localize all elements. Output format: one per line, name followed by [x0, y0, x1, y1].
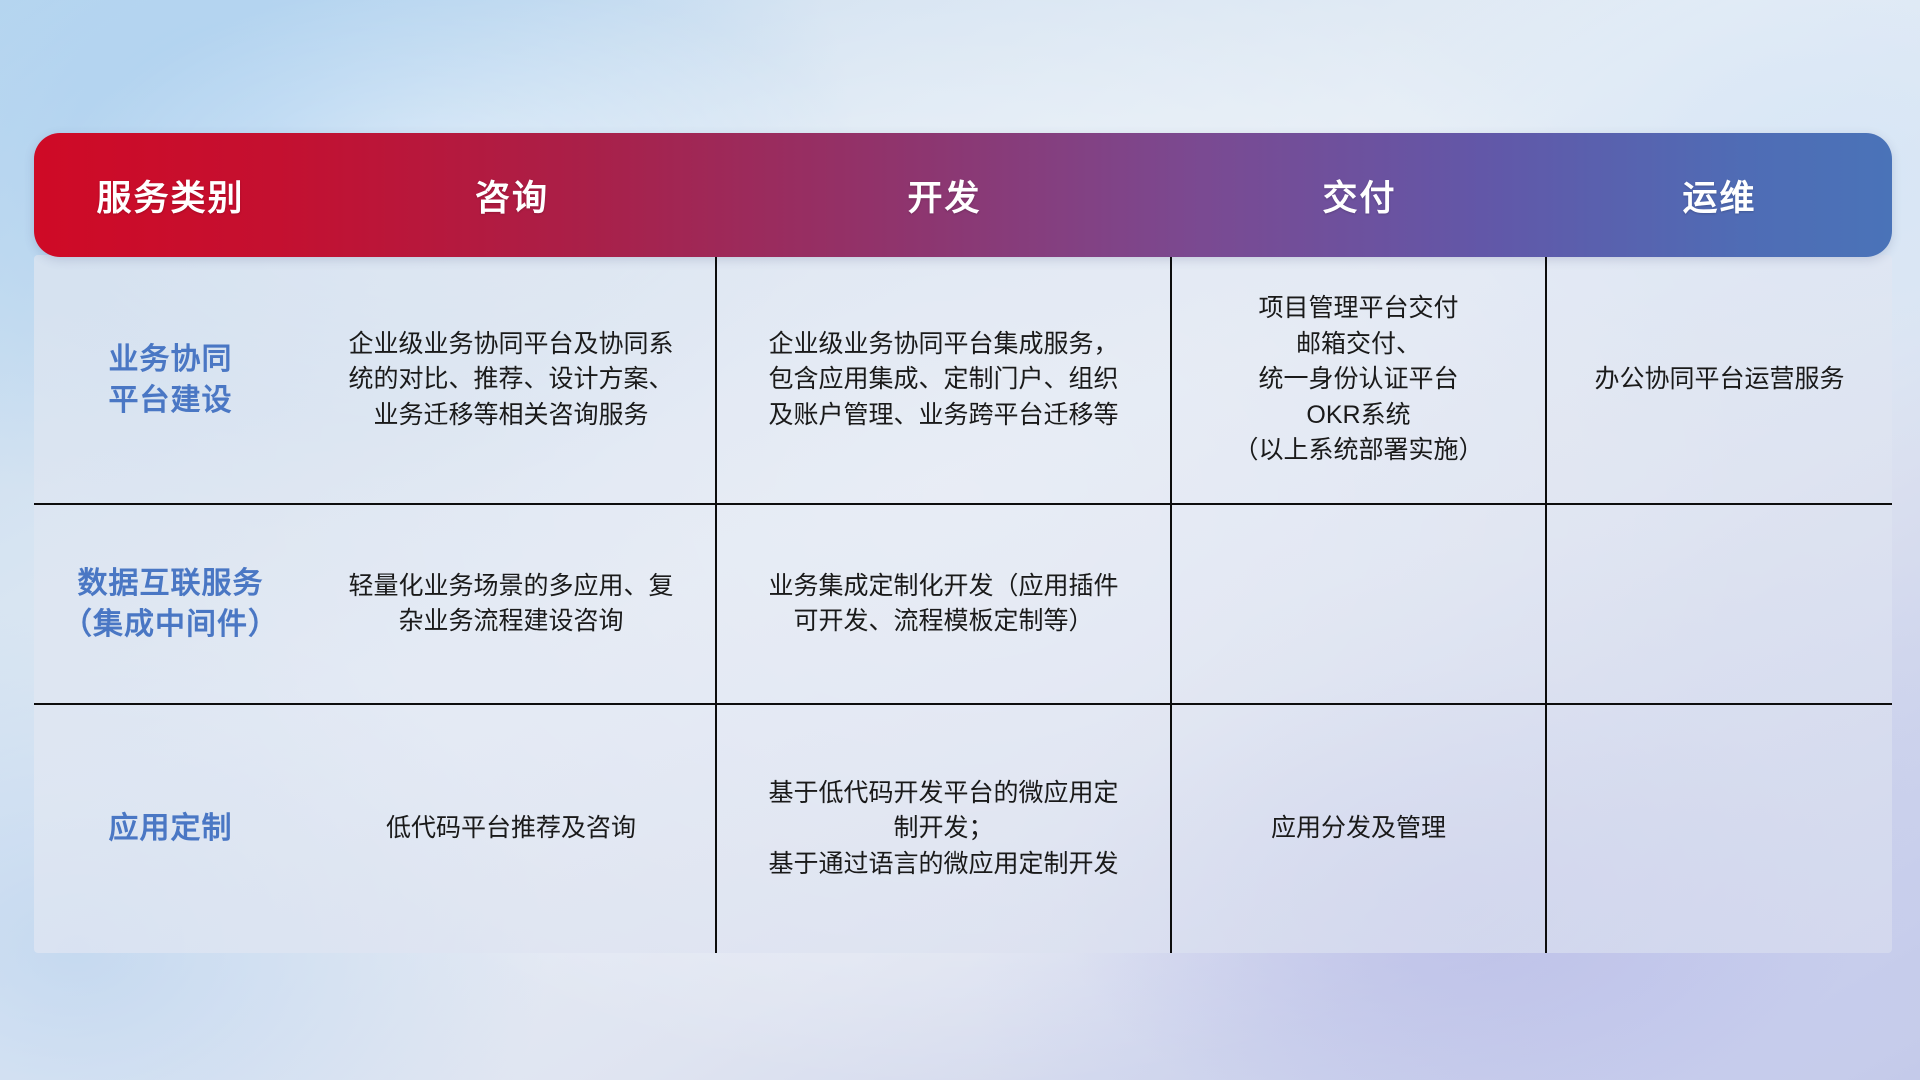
row-category-label: 应用定制	[34, 705, 307, 953]
cell-consulting: 低代码平台推荐及咨询	[307, 705, 717, 953]
table-header-consulting: 咨询	[307, 133, 717, 257]
cell-delivery	[1172, 505, 1547, 703]
cell-delivery: 项目管理平台交付 邮箱交付、 统一身份认证平台 OKR系统 （以上系统部署实施）	[1172, 257, 1547, 503]
table-header-row: 服务类别 咨询 开发 交付 运维	[34, 133, 1892, 257]
cell-development: 业务集成定制化开发（应用插件 可开发、流程模板定制等）	[717, 505, 1172, 703]
row-category-label: 数据互联服务 （集成中间件）	[34, 505, 307, 703]
table-header-development: 开发	[717, 133, 1172, 257]
cell-development: 基于低代码开发平台的微应用定 制开发； 基于通过语言的微应用定制开发	[717, 705, 1172, 953]
table-header-service-category: 服务类别	[34, 133, 307, 257]
service-matrix-table: 服务类别 咨询 开发 交付 运维 业务协同 平台建设 企业级业务协同平台及协同系…	[34, 133, 1892, 953]
cell-delivery: 应用分发及管理	[1172, 705, 1547, 953]
cell-operations	[1547, 505, 1892, 703]
table-row: 数据互联服务 （集成中间件） 轻量化业务场景的多应用、复 杂业务流程建设咨询 业…	[34, 505, 1892, 705]
table-body: 业务协同 平台建设 企业级业务协同平台及协同系 统的对比、推荐、设计方案、 业务…	[34, 257, 1892, 953]
table-row: 业务协同 平台建设 企业级业务协同平台及协同系 统的对比、推荐、设计方案、 业务…	[34, 257, 1892, 505]
table-header-delivery: 交付	[1172, 133, 1547, 257]
cell-consulting: 轻量化业务场景的多应用、复 杂业务流程建设咨询	[307, 505, 717, 703]
cell-operations	[1547, 705, 1892, 953]
cell-development: 企业级业务协同平台集成服务， 包含应用集成、定制门户、组织 及账户管理、业务跨平…	[717, 257, 1172, 503]
cell-consulting: 企业级业务协同平台及协同系 统的对比、推荐、设计方案、 业务迁移等相关咨询服务	[307, 257, 717, 503]
cell-operations: 办公协同平台运营服务	[1547, 257, 1892, 503]
row-category-label: 业务协同 平台建设	[34, 257, 307, 503]
table-row: 应用定制 低代码平台推荐及咨询 基于低代码开发平台的微应用定 制开发； 基于通过…	[34, 705, 1892, 953]
table-header-operations: 运维	[1547, 133, 1892, 257]
